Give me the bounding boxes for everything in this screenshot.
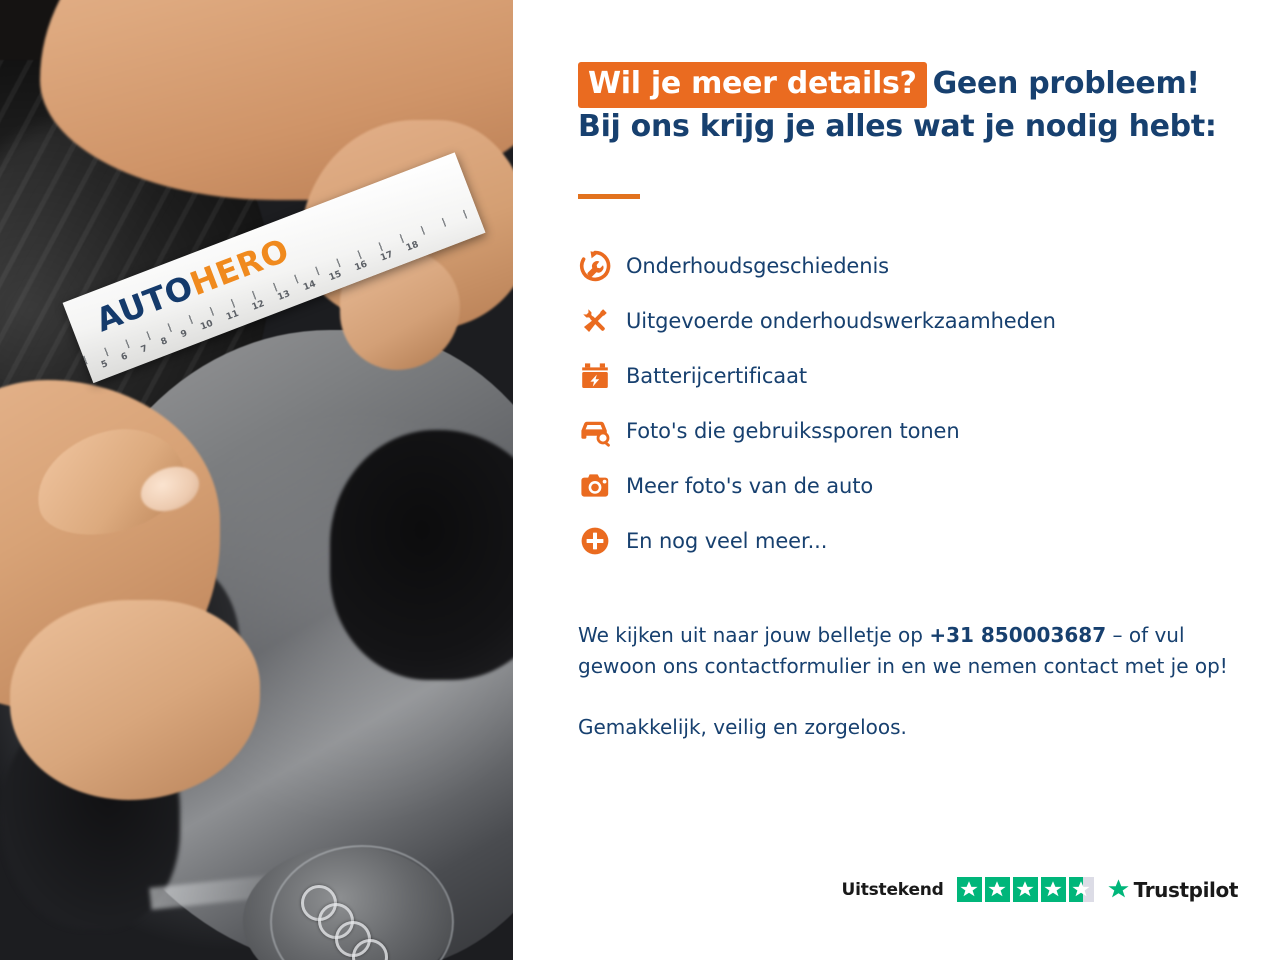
orange-divider [578,194,640,199]
autohero-promo-banner: AUTOHERO 56789101112131415161718 Wil je … [0,0,1280,960]
tyre-tread-photo: AUTOHERO 56789101112131415161718 [0,0,513,960]
feature-list: Onderhoudsgeschiedenis Ui [578,238,1218,568]
gauge-scale-number: 18 [405,240,420,254]
feature-label: Uitgevoerde onderhoudswerkzaamheden [626,309,1056,333]
maintenance-history-icon [578,249,626,283]
trustpilot-star-full [985,877,1010,902]
feature-item-maintenance-history: Onderhoudsgeschiedenis [578,238,1218,293]
feature-label: En nog veel meer... [626,529,827,553]
reassurance-text: Gemakkelijk, veilig en zorgeloos. [578,712,1258,743]
trustpilot-star-full [957,877,982,902]
plus-circle-icon [578,524,626,558]
contact-paragraph: We kijken uit naar jouw belletje op +31 … [578,620,1258,682]
gauge-scale-number: 7 [140,344,149,356]
feature-label: Meer foto's van de auto [626,474,873,498]
photo-stage: AUTOHERO 56789101112131415161718 [0,0,513,960]
headline-line-1-rest: Geen probleem! [933,66,1200,101]
headline-line-1: Wil je meer details?Geen probleem! [578,62,1278,108]
feature-item-and-more: En nog veel meer... [578,513,1218,568]
trustpilot-rating-word: Uitstekend [841,880,943,900]
feature-item-more-photos: Meer foto's van de auto [578,458,1218,513]
trustpilot-star-half [1069,877,1094,902]
feature-item-battery-certificate: Batterijcertificaat [578,348,1218,403]
trustpilot-star-icon [1107,878,1130,901]
gauge-scale-number: 12 [251,299,266,313]
gauge-scale-number: 14 [302,279,317,293]
gauge-scale-number: 8 [160,336,169,348]
battery-icon [578,359,626,393]
feature-label: Foto's die gebruikssporen tonen [626,419,960,443]
headline-line-2: Bij ons krijg je alles wat je nodig hebt… [578,108,1278,146]
trustpilot-stars [957,877,1094,902]
gauge-scale-number: 10 [199,319,214,333]
trustpilot-star-full [1041,877,1066,902]
gauge-scale-number: 15 [328,269,343,283]
wheel-spoke-void-a [330,430,513,680]
phone-number[interactable]: +31 850003687 [929,623,1106,647]
gauge-scale-number: 17 [379,250,394,264]
trustpilot-star-full [1013,877,1038,902]
headline: Wil je meer details?Geen probleem! Bij o… [578,62,1278,146]
headline-badge: Wil je meer details? [578,62,927,108]
feature-item-wear-photos: Foto's die gebruikssporen tonen [578,403,1218,458]
trustpilot-logo: Trustpilot [1107,878,1238,902]
gauge-scale-number: 5 [100,359,109,371]
gauge-scale-number: 13 [276,289,291,303]
camera-icon [578,469,626,503]
trustpilot-logo-text: Trustpilot [1134,878,1238,902]
gauge-scale-number: 6 [120,351,129,363]
car-inspection-icon [578,414,626,448]
contact-text-before-phone: We kijken uit naar jouw belletje op [578,623,929,647]
gauge-scale-number: 11 [225,309,240,323]
crossed-tools-icon [578,304,626,338]
gauge-scale-number: 9 [179,329,188,341]
feature-item-performed-maintenance: Uitgevoerde onderhoudswerkzaamheden [578,293,1218,348]
trustpilot-rating[interactable]: Uitstekend Trustpilot [841,877,1238,902]
contact-block: We kijken uit naar jouw belletje op +31 … [578,620,1258,743]
feature-label: Onderhoudsgeschiedenis [626,254,889,278]
promo-content-panel: Wil je meer details?Geen probleem! Bij o… [513,0,1280,960]
feature-label: Batterijcertificaat [626,364,807,388]
gauge-scale-number: 16 [354,260,369,274]
